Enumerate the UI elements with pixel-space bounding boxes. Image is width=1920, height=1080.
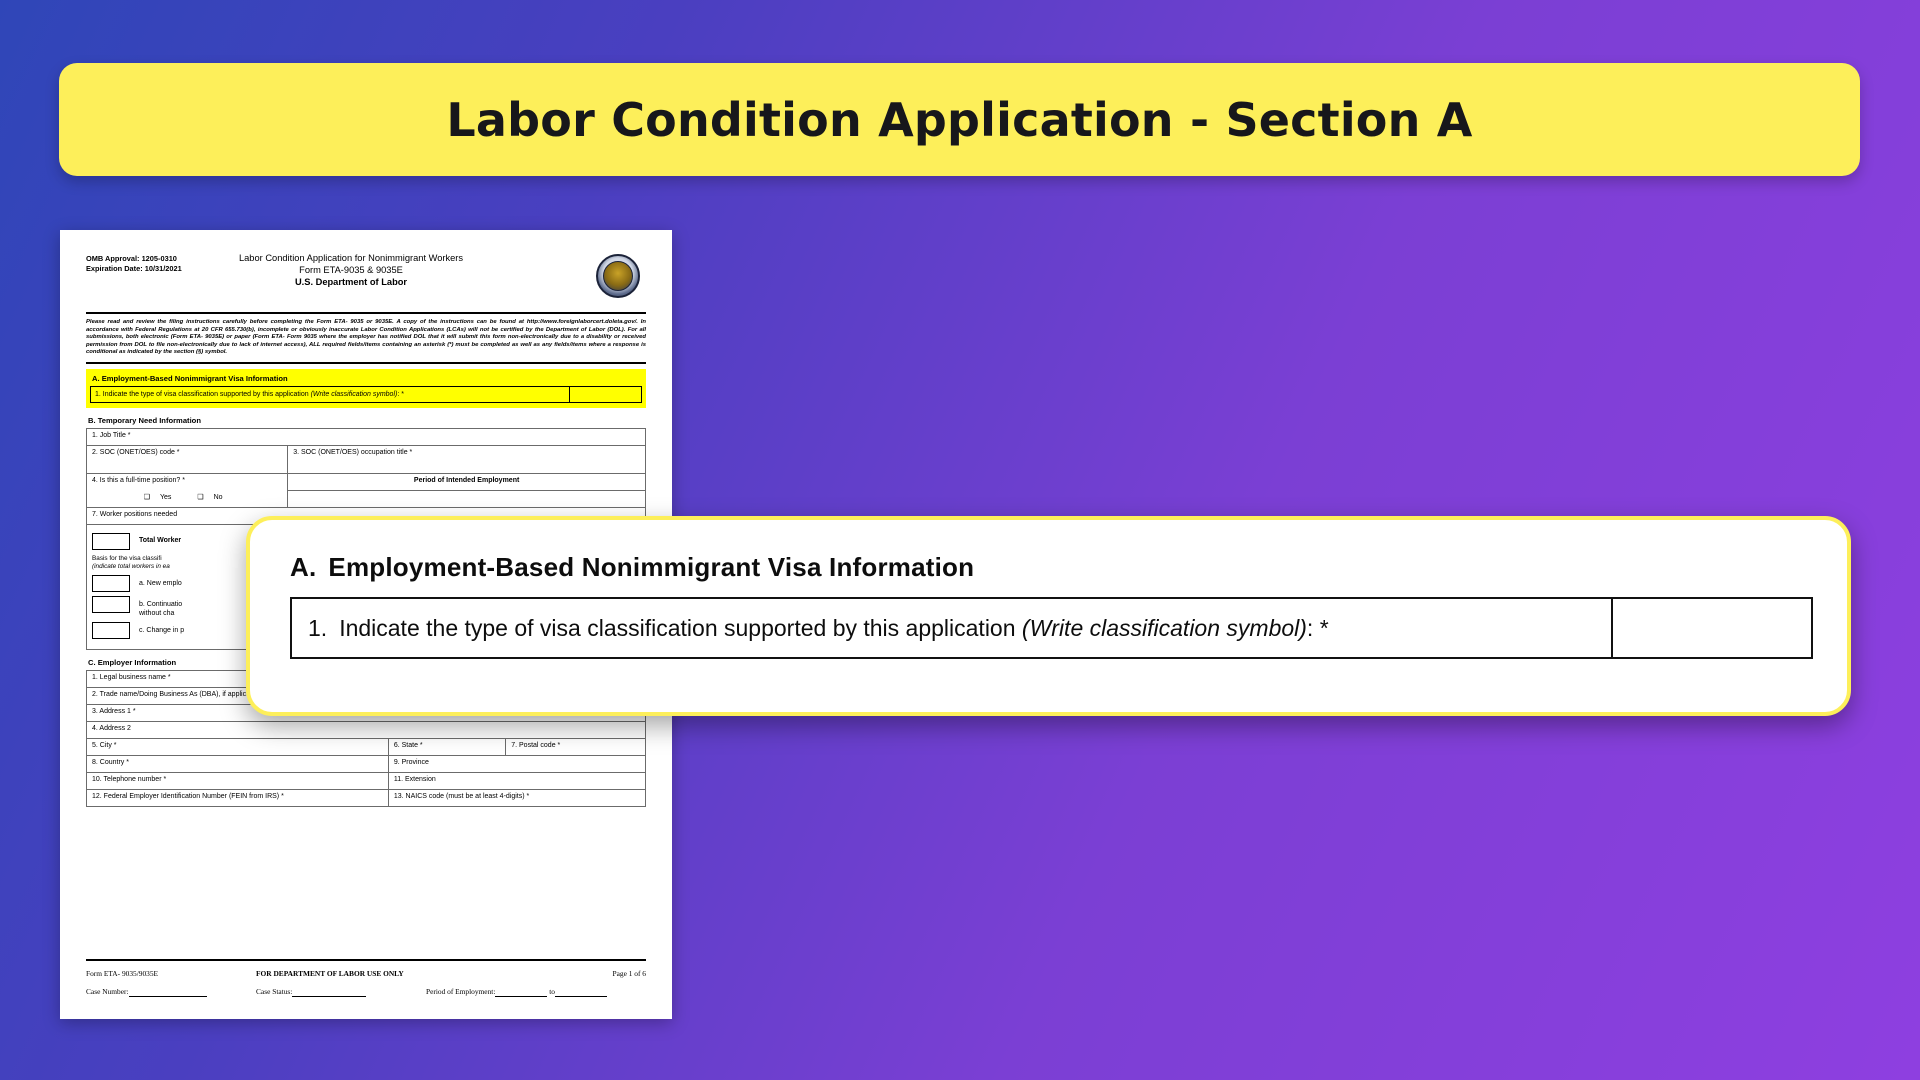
section-a-answer-input[interactable] [569,387,641,402]
section-b-heading: Temporary Need Information [98,416,201,425]
callout-section-heading: Employment-Based Nonimmigrant Visa Infor… [328,552,974,582]
soc-code-cell[interactable]: 2. SOC (ONET/OES) code * [87,445,288,473]
period-employment-label: Period of Employment: [426,987,495,996]
footer-page-number: Page 1 of 6 [556,969,646,978]
total-workers-input[interactable] [92,533,130,550]
footer-row-primary: Form ETA- 9035/9035E FOR DEPARTMENT OF L… [86,966,646,978]
document-title-line-1: Labor Condition Application for Nonimmig… [126,252,576,264]
section-b-table: 1. Job Title * 2. SOC (ONET/OES) code * … [86,428,646,525]
city-cell[interactable]: 5. City * [87,738,389,755]
section-a-question-row: 1. Indicate the type of visa classificat… [90,386,642,403]
fein-cell[interactable]: 12. Federal Employer Identification Numb… [87,789,389,806]
case-status-input[interactable] [292,987,366,997]
section-a-highlight: A. Employment-Based Nonimmigrant Visa In… [86,369,646,408]
postal-code-cell[interactable]: 7. Postal code * [506,738,646,755]
basis-item-b-label: b. Continuatio without cha [139,596,182,618]
naics-cell[interactable]: 13. NAICS code (must be at least 4-digit… [388,789,645,806]
section-a-letter: A. [92,374,100,383]
page-title: Labor Condition Application - Section A [446,93,1472,147]
basis-note-line-2: (indicate total workers in ea [92,563,170,570]
basis-item-a-input[interactable] [92,575,130,592]
footer-row-fields: Case Number: Case Status: Period of Empl… [86,978,646,997]
callout-section-letter: A. [290,552,316,582]
footer-case-number: Case Number: [86,987,256,997]
table-row: 4. Is this a full-time position? * Perio… [87,473,646,490]
period-of-intended-employment-cell: Period of Intended Employment [288,473,646,490]
callout-question-suffix: : * [1307,615,1329,642]
callout-question-body: Indicate the type of visa classification… [339,615,1015,642]
basis-item-b-input[interactable] [92,596,130,613]
table-row: 8. Country * 9. Province [87,755,646,772]
period-dates-cell[interactable] [288,490,646,507]
callout-question-number: 1. [308,615,327,642]
section-c-letter: C. [88,658,96,667]
section-a-question-body: Indicate the type of visa classification… [103,391,309,398]
table-row: 10. Telephone number * 11. Extension [87,772,646,789]
callout-question-hint: (Write classification symbol) [1022,615,1307,642]
address2-cell[interactable]: 4. Address 2 [87,721,646,738]
period-to-input[interactable] [555,987,607,997]
callout-section-title: A.Employment-Based Nonimmigrant Visa Inf… [290,552,1813,583]
document-title-line-3: U.S. Department of Labor [126,276,576,288]
callout-question-text: 1. Indicate the type of visa classificat… [292,599,1611,657]
header-divider [86,312,646,314]
period-from-input[interactable] [495,987,547,997]
page-title-banner: Labor Condition Application - Section A [59,63,1860,176]
section-c-heading: Employer Information [98,658,176,667]
document-title-line-2: Form ETA-9035 & 9035E [126,264,576,276]
section-a-question-hint: (Write classification symbol) [311,391,398,398]
full-time-cell[interactable]: 4. Is this a full-time position? * [87,473,288,490]
job-title-cell[interactable]: 1. Job Title * [87,428,646,445]
telephone-cell[interactable]: 10. Telephone number * [87,772,389,789]
instructions-divider [86,362,646,364]
omb-info: OMB Approval: 1205-0310 Expiration Date:… [86,254,182,273]
omb-approval: OMB Approval: 1205-0310 [86,254,182,264]
section-a-question-suffix: : * [397,391,404,398]
footer-dol-use-only: FOR DEPARTMENT OF LABOR USE ONLY [256,969,556,978]
section-a-title: A. Employment-Based Nonimmigrant Visa In… [90,372,642,386]
table-row: 2. SOC (ONET/OES) code * 3. SOC (ONET/OE… [87,445,646,473]
footer-case-status: Case Status: [256,987,426,997]
total-workers-label: Total Worker [139,533,181,544]
footer-form-id: Form ETA- 9035/9035E [86,969,256,978]
dol-seal-inner-icon [603,261,633,291]
footer-period-of-employment: Period of Employment: to [426,987,646,997]
checkbox-no[interactable]: ❑ No [197,494,230,501]
case-status-label: Case Status: [256,987,292,996]
footer-divider [86,959,646,961]
callout-question-row: 1. Indicate the type of visa classificat… [290,597,1813,659]
callout-classification-symbol-input[interactable] [1611,599,1811,657]
table-row: 12. Federal Employer Identification Numb… [87,789,646,806]
section-b-letter: B. [88,416,96,425]
basis-item-c-input[interactable] [92,622,130,639]
dol-seal-icon [596,254,640,298]
soc-title-cell[interactable]: 3. SOC (ONET/OES) occupation title * [288,445,646,473]
section-a-question-number: 1. [95,391,101,398]
checkbox-yes[interactable]: ❑ Yes [144,494,180,501]
table-row: 5. City * 6. State * 7. Postal code * [87,738,646,755]
case-number-input[interactable] [129,987,207,997]
table-row: 4. Address 2 [87,721,646,738]
extension-cell[interactable]: 11. Extension [388,772,645,789]
section-a-question-text: 1. Indicate the type of visa classificat… [91,387,569,402]
table-row: ❑ Yes ❑ No [87,490,646,507]
province-cell[interactable]: 9. Province [388,755,645,772]
basis-item-a-label: a. New emplo [139,575,182,588]
section-b-title: B. Temporary Need Information [88,416,646,425]
table-row: 1. Job Title * [87,428,646,445]
magnified-callout-card: A.Employment-Based Nonimmigrant Visa Inf… [246,516,1851,716]
document-header: OMB Approval: 1205-0310 Expiration Date:… [86,252,646,308]
section-a-heading: Employment-Based Nonimmigrant Visa Infor… [102,374,288,383]
state-cell[interactable]: 6. State * [388,738,505,755]
case-number-label: Case Number: [86,987,129,996]
full-time-checkboxes[interactable]: ❑ Yes ❑ No [87,490,288,507]
basis-item-c-label: c. Change in p [139,622,184,635]
document-footer: Form ETA- 9035/9035E FOR DEPARTMENT OF L… [86,955,646,997]
country-cell[interactable]: 8. Country * [87,755,389,772]
omb-expiration: Expiration Date: 10/31/2021 [86,264,182,274]
filing-instructions-text: Please read and review the filing instru… [86,319,646,357]
